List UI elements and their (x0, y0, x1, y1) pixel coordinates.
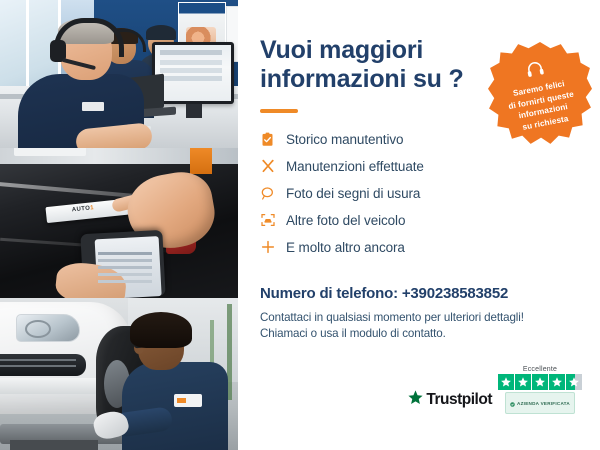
phone-number[interactable]: +390238583852 (402, 285, 508, 302)
star-icon (549, 374, 565, 390)
callout-badge: Saremo felici di fornirti queste informa… (488, 42, 592, 146)
monitor-stand-decor (186, 104, 202, 118)
verified-badge: AZIENDA VERIFICATA (505, 392, 575, 414)
clipboard-check-icon (260, 132, 286, 147)
headline-line-2: informazioni su ? (260, 65, 464, 93)
star-icon (515, 374, 531, 390)
contact-note-line-1: Contattaci in qualsiasi momento per ulte… (260, 311, 524, 324)
white-object-decor (14, 148, 86, 156)
car-photo-frame-icon (260, 212, 286, 228)
bumper-decor (0, 378, 102, 394)
lift-base-decor (10, 440, 98, 450)
trustpilot-star-icon (407, 389, 424, 411)
page-title: Vuoi maggiori informazioni su ? (260, 36, 470, 95)
tire-check-photo (0, 298, 238, 450)
star-icon-half (566, 374, 582, 390)
vehicle-inspection-photo: AUTO1 (0, 148, 238, 298)
rating-word: Eccellente (523, 366, 557, 373)
grille-decor (0, 354, 86, 376)
feature-label: Storico manutentivo (286, 132, 403, 147)
star-icon (532, 374, 548, 390)
magnifier-icon (260, 185, 286, 201)
feature-label: Foto dei segni di usura (286, 186, 420, 201)
contact-note-line-2: Chiamaci o usa il modulo di contatto. (260, 327, 446, 340)
wrench-screwdriver-icon (260, 158, 286, 174)
mechanic-figure (120, 316, 228, 450)
list-item: E molto altro ancora (260, 234, 576, 261)
trustpilot-brand: Trustpilot (426, 391, 492, 409)
feature-label: Manutenzioni effettuate (286, 159, 424, 174)
trustpilot-rating: Eccellente (498, 366, 582, 414)
headlight-decor (16, 314, 80, 342)
list-item: Manutenzioni effettuate (260, 153, 576, 180)
title-divider (260, 109, 298, 113)
tablet-screen-lines (98, 252, 152, 255)
promo-poster: AUTO1 (0, 0, 600, 450)
phone-label: Numero di telefono: (260, 285, 398, 302)
star-icon (498, 374, 514, 390)
agent-foreground (18, 18, 136, 148)
badge-content: Saremo felici di fornirti queste informa… (495, 53, 585, 136)
list-item: Altre foto del veicolo (260, 207, 576, 234)
phone-line: Numero di telefono: +390238583852 (260, 285, 576, 302)
feature-label: Altre foto del veicolo (286, 213, 405, 228)
trustpilot-widget[interactable]: Trustpilot Eccellente (407, 366, 582, 414)
trustpilot-logo: Trustpilot (407, 389, 492, 414)
orange-panel-decor (190, 148, 212, 174)
photo-column: AUTO1 (0, 0, 238, 450)
headset-icon (524, 59, 548, 84)
call-center-photo (0, 0, 238, 148)
feature-label: E molto altro ancora (286, 240, 405, 255)
star-rating (498, 374, 582, 390)
plus-icon (260, 239, 286, 255)
list-item: Foto dei segni di usura (260, 180, 576, 207)
headline-line-1: Vuoi maggiori (260, 36, 423, 64)
verified-check-icon (510, 394, 515, 412)
verified-label: AZIENDA VERIFICATA (517, 401, 570, 406)
content-panel: Vuoi maggiori informazioni su ? Storico … (238, 0, 600, 450)
contact-note: Contattaci in qualsiasi momento per ulte… (260, 310, 576, 344)
monitor-decor (152, 42, 234, 104)
